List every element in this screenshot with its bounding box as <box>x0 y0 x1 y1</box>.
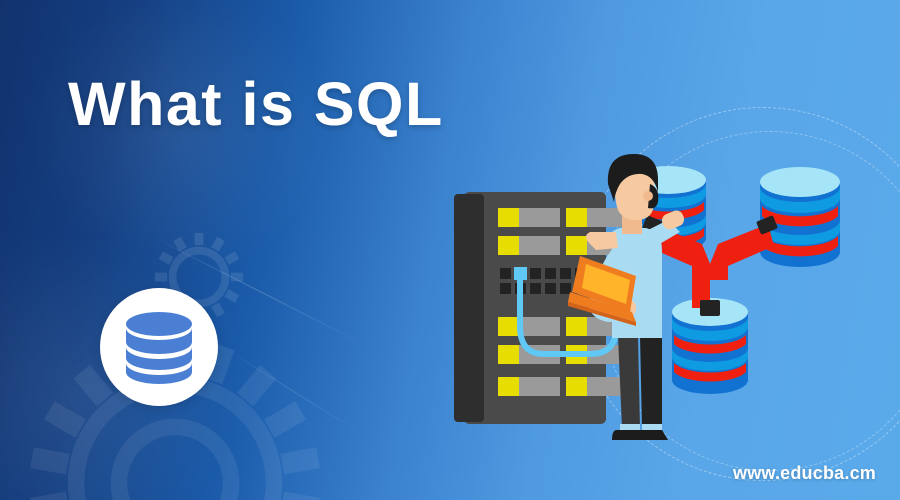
soft-light-circle-icon <box>30 0 330 280</box>
server-rack-database-scene <box>440 140 880 470</box>
diagonal-light-streak-icon <box>220 345 365 436</box>
database-badge-icon <box>100 288 218 406</box>
leg-back <box>618 336 640 428</box>
watermark-url: www.educba.cm <box>733 463 876 484</box>
leg-front <box>640 336 662 428</box>
shoe-front <box>634 430 668 440</box>
page-title: What is SQL <box>68 72 444 136</box>
banner-root: What is SQL <box>0 0 900 500</box>
